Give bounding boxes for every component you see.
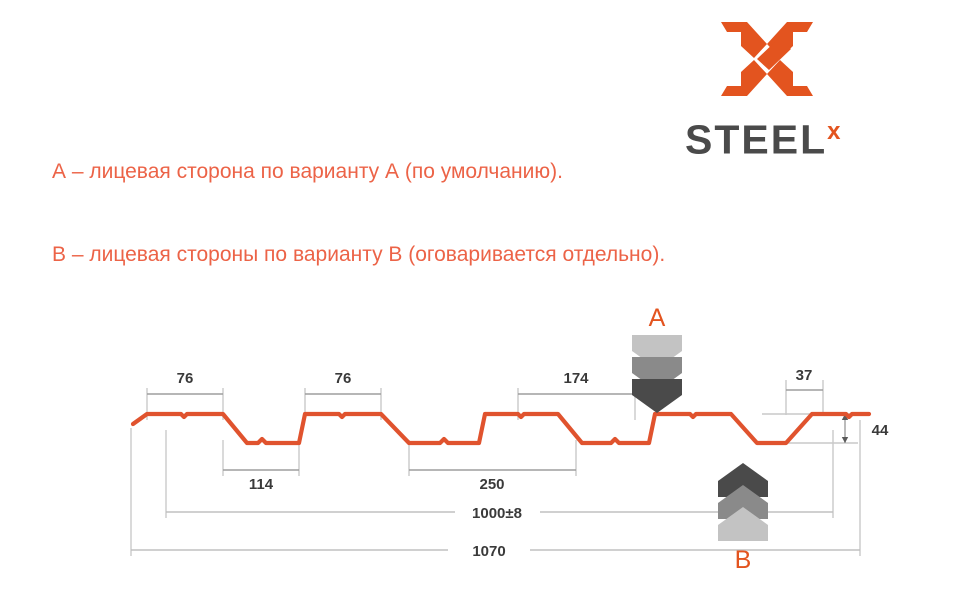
dim-working-width: 1000±8: [472, 505, 522, 522]
dim-crest-left: 76: [177, 370, 194, 387]
chevron-down-triple-icon: [632, 335, 682, 413]
brand-logo: STEELx: [685, 18, 915, 148]
dim-total-width: 1070: [472, 543, 505, 560]
dim-height-44: 44: [872, 422, 889, 439]
dimension-lines-top: [147, 390, 823, 394]
legend-line-b: В – лицевая стороны по варианту В (огова…: [52, 243, 665, 267]
dim-edge-lip-37: 37: [796, 367, 813, 384]
dim-crest-mid: 76: [335, 370, 352, 387]
profile-technical-drawing: 76 76 174 37 114 250 44 1000±8 1070 А В: [0, 280, 970, 597]
dimension-labels: 76 76 174 37 114 250 44 1000±8 1070: [177, 367, 889, 560]
legend-line-a: А – лицевая сторона по варианту А (по ум…: [52, 160, 563, 184]
dim-valley-114: 114: [249, 476, 274, 493]
side-b-label: В: [735, 546, 752, 574]
brand-superscript: x: [827, 118, 840, 145]
dim-pitch-250: 250: [479, 476, 504, 493]
sheet-profile-path: [133, 414, 869, 443]
side-a-label: А: [649, 304, 666, 332]
steelx-x-logo-icon: [721, 18, 813, 100]
dimension-height-44: [842, 414, 848, 443]
side-b-marker: В: [718, 463, 768, 574]
brand-name: STEEL: [685, 117, 827, 163]
brand-wordmark: STEELx: [685, 110, 915, 154]
dim-pitch-174: 174: [563, 370, 589, 387]
chevron-up-triple-icon: [718, 463, 768, 541]
side-a-marker: А: [632, 304, 682, 413]
